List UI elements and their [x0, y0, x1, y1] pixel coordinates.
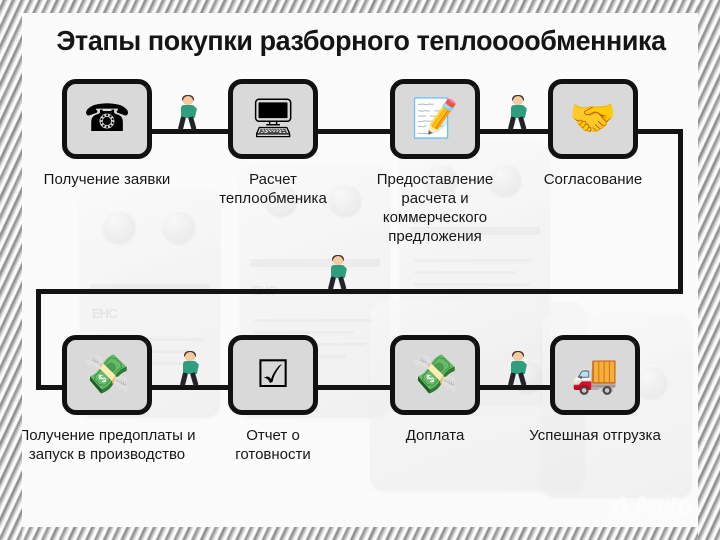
step-label-4: Согласование — [518, 170, 668, 189]
money-with-wings-icon: 💸 — [411, 356, 458, 394]
check-box-icon: ☑ — [256, 356, 290, 394]
memo-pencil-icon: 📝 — [411, 100, 458, 138]
frame-border-top — [0, 0, 720, 13]
walking-person-icon — [327, 256, 349, 290]
frame-border-right — [698, 0, 720, 540]
step-box-8[interactable]: 🚚 — [550, 335, 640, 415]
slide-content: EHC EHC — [22, 13, 698, 527]
step-box-1[interactable]: ☎ — [62, 79, 152, 159]
step-box-2[interactable]: 🖥 — [228, 79, 318, 159]
frame-border-left — [0, 0, 22, 540]
connector-step2-step3 — [318, 129, 392, 134]
step-label-8: Успешная отгрузка — [508, 426, 682, 445]
page-title: Этапы покупки разборного теплооообменник… — [43, 25, 679, 57]
walking-person-icon — [507, 352, 529, 386]
step-box-4[interactable]: 🤝 — [548, 79, 638, 159]
step-box-6[interactable]: ☑ — [228, 335, 318, 415]
step-label-1: Получение заявки — [22, 170, 197, 189]
step-label-6: Отчет о готовности — [210, 426, 336, 464]
walking-person-icon — [179, 352, 201, 386]
avito-logo-icon — [610, 496, 630, 516]
walking-person-icon — [507, 96, 529, 130]
frame-border-bottom — [0, 527, 720, 540]
monitor-icon: 🖥 — [249, 100, 297, 138]
connector-left-vertical — [36, 289, 41, 389]
step-box-7[interactable]: 💸 — [390, 335, 480, 415]
step-label-3: Предоставление расчета и коммерческого п… — [360, 170, 510, 246]
step-label-2: Расчет теплообменика — [208, 170, 338, 208]
avito-watermark: Avito — [610, 490, 692, 521]
walking-person-icon — [177, 96, 199, 130]
step-box-3[interactable]: 📝 — [390, 79, 480, 159]
step-label-7: Доплата — [370, 426, 500, 445]
avito-watermark-text: Avito — [633, 490, 692, 521]
truck-icon: 🚚 — [571, 356, 618, 394]
step-box-5[interactable]: 💸 — [62, 335, 152, 415]
connector-middle-horizontal — [36, 289, 683, 294]
telephone-icon: ☎ — [83, 100, 130, 138]
step-label-5: Получение предоплаты и запуск в производ… — [22, 426, 198, 464]
connector-step6-step7 — [318, 385, 392, 390]
connector-step4-right — [638, 129, 683, 134]
money-with-wings-icon: 💸 — [83, 356, 130, 394]
infographic-slide: EHC EHC — [0, 0, 720, 540]
handshake-icon: 🤝 — [569, 100, 616, 138]
connector-right-vertical — [678, 129, 683, 294]
